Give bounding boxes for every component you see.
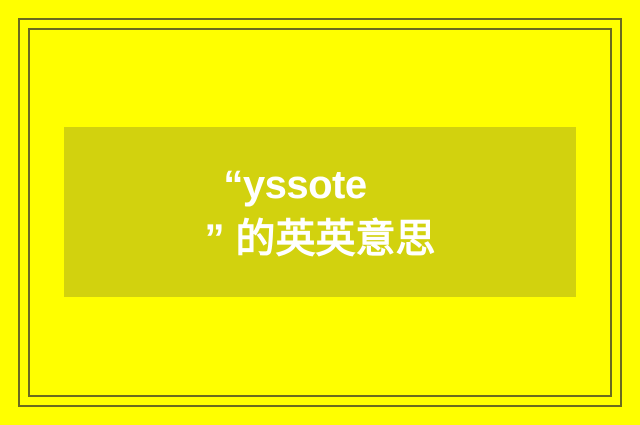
banner-canvas: “yssote ” 的英英意思 xyxy=(0,0,640,425)
title-banner: “yssote ” 的英英意思 xyxy=(64,127,576,297)
title-line-primary: “yssote xyxy=(223,165,366,205)
title-text-block: “yssote ” 的英英意思 xyxy=(64,127,576,297)
title-line-secondary: ” 的英英意思 xyxy=(204,219,435,259)
